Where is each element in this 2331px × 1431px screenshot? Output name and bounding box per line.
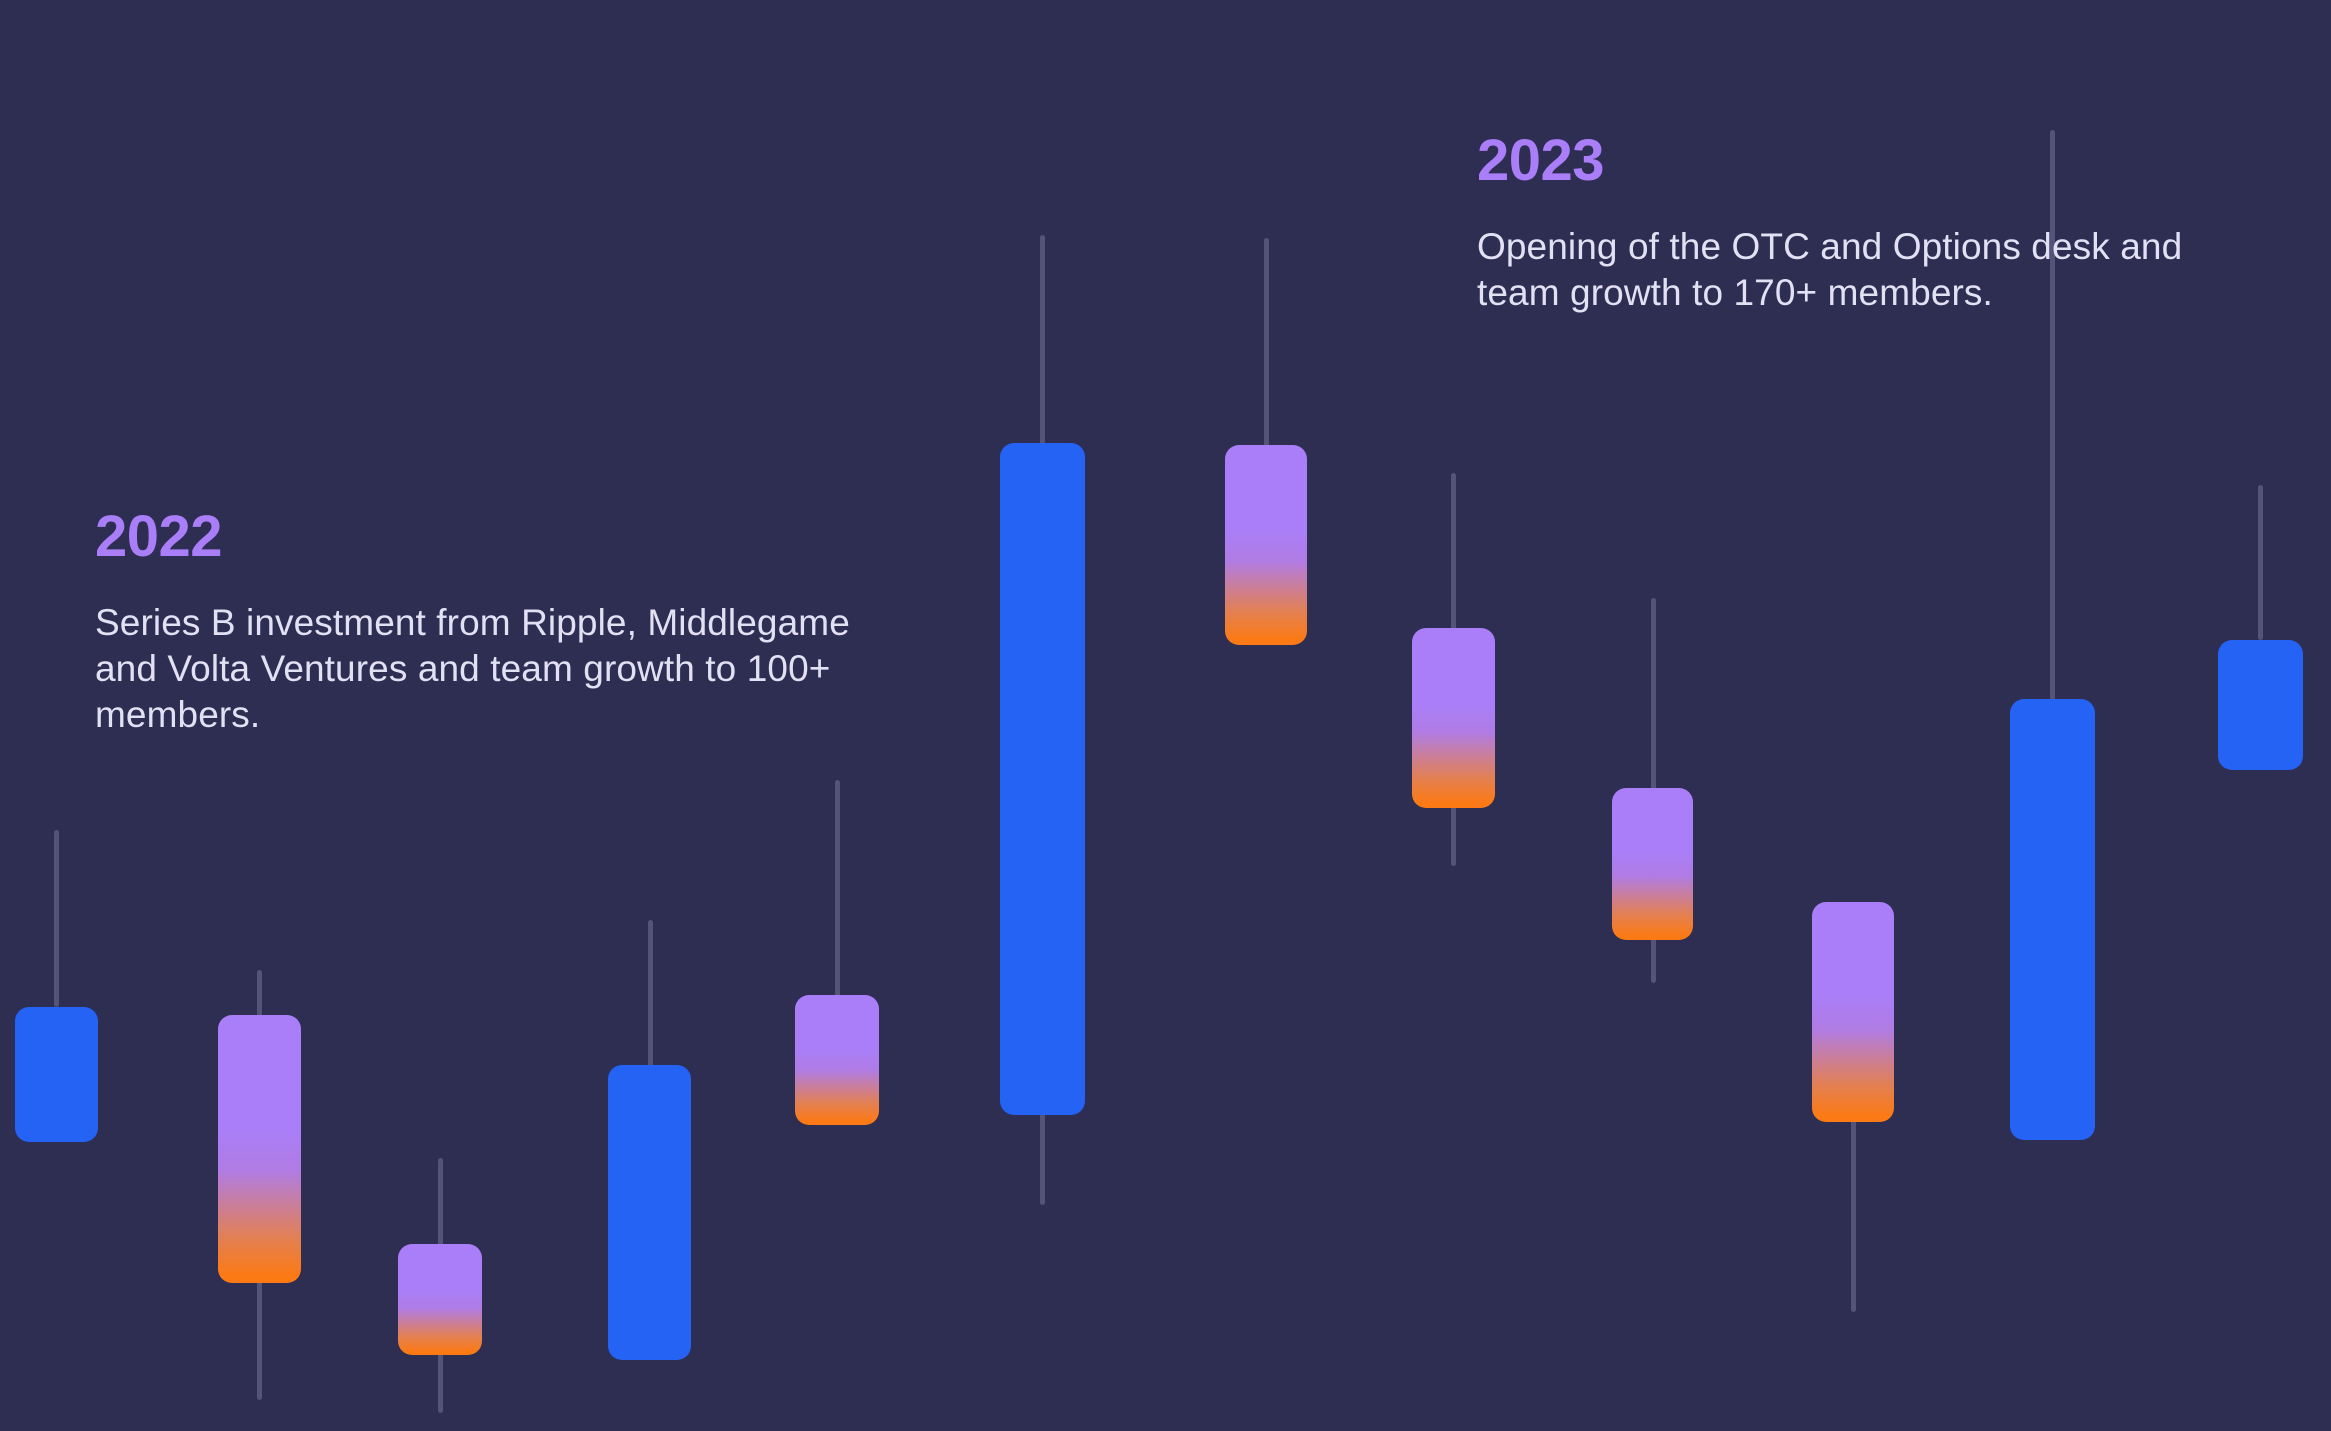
milestone-2022: 2022 Series B investment from Ripple, Mi… bbox=[95, 508, 855, 738]
milestone-description: Opening of the OTC and Options desk and … bbox=[1477, 224, 2197, 316]
milestone-2023: 2023 Opening of the OTC and Options desk… bbox=[1477, 132, 2197, 316]
milestone-year-label: 2022 bbox=[95, 508, 855, 566]
milestone-annotations: 2022 Series B investment from Ripple, Mi… bbox=[0, 0, 2331, 1431]
milestone-description: Series B investment from Ripple, Middleg… bbox=[95, 600, 855, 738]
milestone-year-label: 2023 bbox=[1477, 132, 2197, 190]
candlestick-hero-section: 2022 Series B investment from Ripple, Mi… bbox=[0, 0, 2331, 1431]
